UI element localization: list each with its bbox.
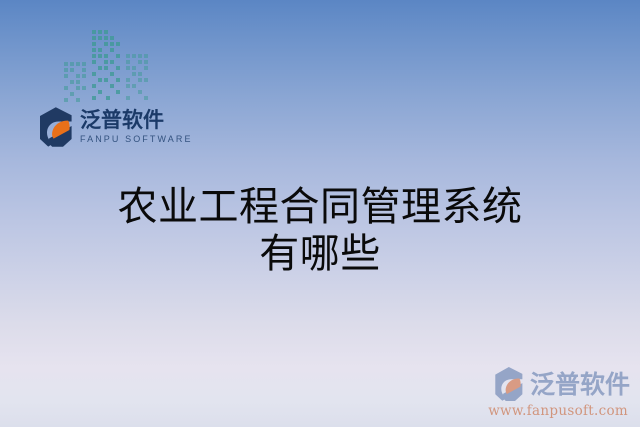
brand-name-en: FANPU SOFTWARE	[80, 134, 193, 146]
pixel-bars-graphic-icon	[62, 26, 154, 106]
page-title-line-2: 有哪些	[18, 231, 622, 278]
brand-logo: 泛普软件 FANPU SOFTWARE	[38, 106, 193, 148]
watermark: 泛普软件 www.fanpusoft.com	[488, 366, 630, 419]
watermark-logo-row: 泛普软件	[492, 366, 630, 402]
watermark-name-cn: 泛普软件	[530, 372, 630, 397]
page-title: 农业工程合同管理系统 有哪些	[0, 184, 640, 278]
fanpu-hexagon-logo-mark-muted-icon	[492, 366, 526, 402]
brand-name-cn: 泛普软件	[80, 109, 193, 131]
fanpu-hexagon-logo-mark-icon	[38, 106, 74, 148]
brand-wordmark: 泛普软件 FANPU SOFTWARE	[80, 109, 193, 146]
page-title-line-1: 农业工程合同管理系统	[18, 184, 622, 231]
watermark-url: www.fanpusoft.com	[488, 403, 628, 419]
slide-canvas: 泛普软件 FANPU SOFTWARE 农业工程合同管理系统 有哪些 泛普软件 …	[0, 0, 640, 427]
